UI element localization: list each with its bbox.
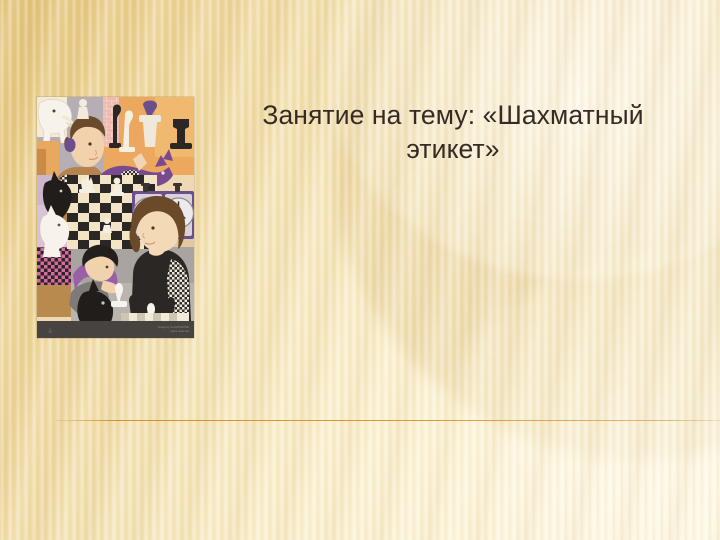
chess-poster-svg: ♟	[37, 97, 194, 338]
chess-poster-image: ♟ Image by ILLUSTRATOR rights reserved	[37, 97, 194, 338]
poster-credit-text: Image by ILLUSTRATOR rights reserved	[158, 326, 189, 333]
slide-divider-line	[56, 420, 720, 421]
svg-text:♟: ♟	[47, 327, 53, 335]
poster-credit-line2: rights reserved	[158, 330, 189, 333]
slide-canvas: ♟ Image by ILLUSTRATOR rights reserved З…	[0, 0, 720, 540]
slide-title: Занятие на тему: «Шахматный этикет»	[214, 98, 692, 166]
